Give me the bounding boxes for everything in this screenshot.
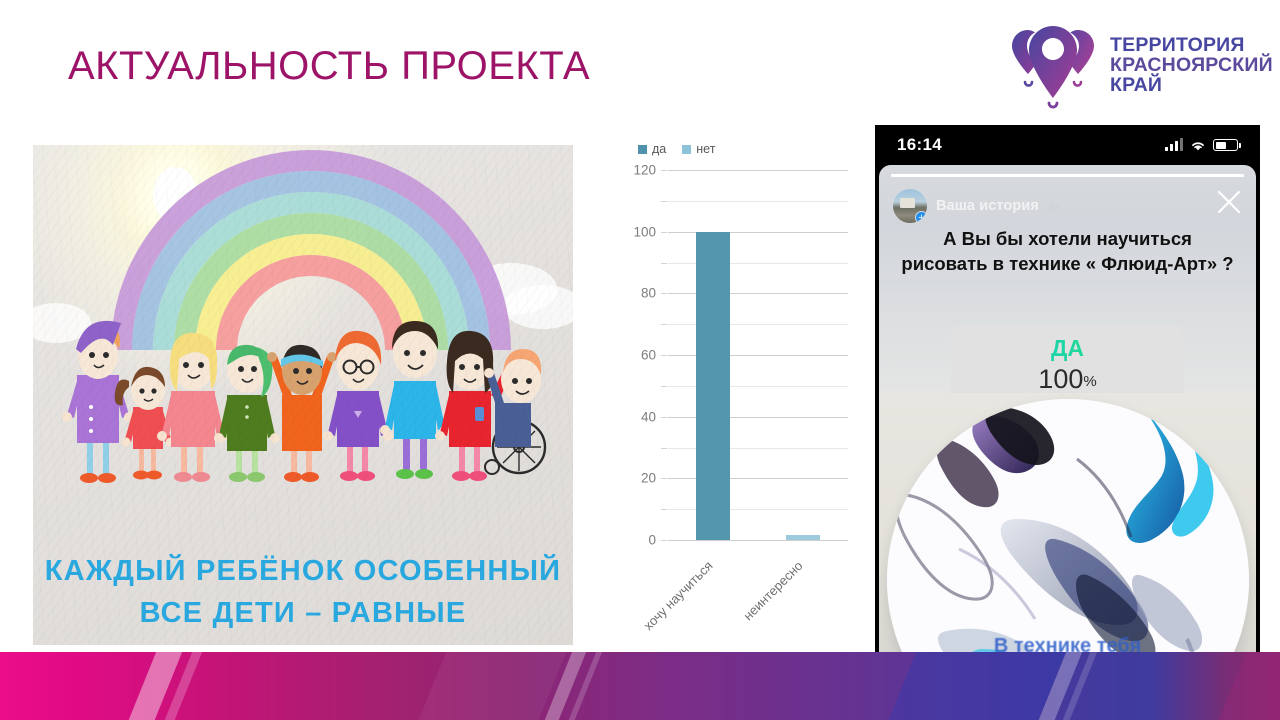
children-illustration — [51, 315, 555, 493]
y-axis-labels: 020406080100120 — [620, 170, 662, 540]
footer-stripe — [1202, 652, 1280, 720]
footer-stripe — [872, 652, 1079, 720]
poll-answer-label: ДА — [951, 335, 1184, 362]
poster-caption-line-1: КАЖДЫЙ РЕБЁНОК ОСОБЕННЫЙ — [33, 552, 573, 591]
y-axis-tick-label: 60 — [641, 348, 656, 363]
axis-tick — [661, 386, 667, 387]
chart-plot-area: 020406080100120 хочу научитьсянеинтересн… — [620, 170, 870, 550]
gridline — [668, 417, 848, 418]
axis-tick — [661, 355, 667, 356]
legend-label-da: да — [652, 142, 666, 156]
x-axis-labels: хочу научитьсянеинтересно — [668, 548, 868, 658]
axis-tick — [661, 201, 667, 202]
gridline — [668, 540, 848, 541]
story-avatar[interactable]: + — [893, 189, 927, 223]
page-title: АКТУАЛЬНОСТЬ ПРОЕКТА — [68, 44, 590, 89]
status-time: 16:14 — [897, 135, 942, 155]
legend-item-net: нет — [682, 142, 715, 156]
story-question: А Вы бы хотели научиться рисовать в техн… — [901, 227, 1234, 276]
axis-tick — [661, 417, 667, 418]
story-progress-bar — [891, 174, 1244, 177]
x-axis-tick-label: хочу научиться — [640, 558, 715, 633]
chart-bar — [696, 232, 730, 540]
x-axis-tick-label: неинтересно — [740, 558, 805, 623]
axis-tick — [661, 263, 667, 264]
axis-tick — [661, 509, 667, 510]
axis-tick — [661, 540, 667, 541]
logo-line-3: КРАЙ — [1110, 76, 1273, 96]
gridline — [668, 355, 848, 356]
footer-stripe — [552, 652, 615, 720]
legend-swatch-net — [682, 145, 691, 154]
legend-swatch-da — [638, 145, 647, 154]
gridline — [668, 201, 848, 202]
axis-tick — [661, 448, 667, 449]
gridline — [668, 478, 848, 479]
chart-legend: да нет — [638, 142, 715, 156]
phone-screenshot: 16:14 + Ваша история — [875, 125, 1260, 660]
fluid-art-svg — [887, 399, 1249, 660]
story-timestamp: 3ч. — [1048, 199, 1066, 214]
artwork-area: В технике тебя — [879, 393, 1256, 660]
y-axis-tick-label: 80 — [641, 286, 656, 301]
footer-stripe — [148, 652, 215, 720]
footer-stripe — [402, 652, 579, 720]
phone-status-bar: 16:14 — [875, 125, 1260, 165]
legend-item-da: да — [638, 142, 666, 156]
gridline — [668, 263, 848, 264]
gridline — [668, 170, 848, 171]
logo: ТЕРРИТОРИЯ КРАСНОЯРСКИЙ КРАЙ — [1008, 20, 1264, 112]
footer-band — [0, 652, 1280, 720]
map-pin-cluster-icon — [1008, 22, 1100, 110]
battery-icon — [1213, 139, 1238, 151]
wifi-icon — [1190, 139, 1206, 152]
add-story-badge-icon[interactable]: + — [915, 211, 927, 223]
y-axis-tick-label: 20 — [641, 471, 656, 486]
fluid-art-circle — [887, 399, 1249, 660]
legend-label-net: нет — [696, 142, 715, 156]
poster-image: КАЖДЫЙ РЕБЁНОК ОСОБЕННЫЙ ВСЕ ДЕТИ – РАВН… — [33, 145, 573, 645]
poll-bar-chart: да нет 020406080100120 хочу научитьсянеи… — [620, 138, 870, 638]
story-card[interactable]: + Ваша история 3ч. А Вы бы хотели научит… — [879, 165, 1256, 660]
axis-tick — [661, 293, 667, 294]
y-axis-tick-label: 120 — [633, 163, 656, 178]
gridline — [668, 293, 848, 294]
logo-text: ТЕРРИТОРИЯ КРАСНОЯРСКИЙ КРАЙ — [1110, 36, 1273, 96]
y-axis-tick-label: 100 — [633, 224, 656, 239]
poll-percent-symbol: % — [1083, 373, 1096, 390]
gridline — [668, 386, 848, 387]
story-username: Ваша история — [936, 198, 1039, 214]
footer-stripe — [1022, 652, 1095, 720]
cellular-signal-icon — [1165, 139, 1183, 151]
logo-line-2: КРАСНОЯРСКИЙ — [1110, 56, 1273, 76]
chart-grid — [668, 170, 848, 540]
slide-root: АКТУАЛЬНОСТЬ ПРОЕКТА Т — [0, 0, 1280, 720]
poll-percent: 100% — [951, 364, 1184, 395]
y-axis-tick-label: 0 — [648, 533, 656, 548]
poster-caption: КАЖДЫЙ РЕБЁНОК ОСОБЕННЫЙ ВСЕ ДЕТИ – РАВН… — [33, 552, 573, 635]
footer-stripe — [528, 652, 599, 720]
story-header: + Ваша история 3ч. — [893, 189, 1244, 223]
gridline — [668, 232, 848, 233]
footer-stripe — [1046, 652, 1110, 720]
poster-caption-line-2: ВСЕ ДЕТИ – РАВНЫЕ — [33, 592, 573, 636]
gridline — [668, 324, 848, 325]
axis-tick — [661, 478, 667, 479]
axis-tick — [661, 170, 667, 171]
close-icon[interactable] — [1214, 187, 1244, 217]
poll-percent-value: 100 — [1038, 364, 1083, 394]
status-icons — [1165, 139, 1238, 152]
footer-stripe — [112, 652, 195, 720]
axis-tick — [661, 324, 667, 325]
axis-tick — [661, 232, 667, 233]
chart-bar — [786, 535, 820, 540]
gridline — [668, 509, 848, 510]
y-axis-tick-label: 40 — [641, 409, 656, 424]
gridline — [668, 448, 848, 449]
